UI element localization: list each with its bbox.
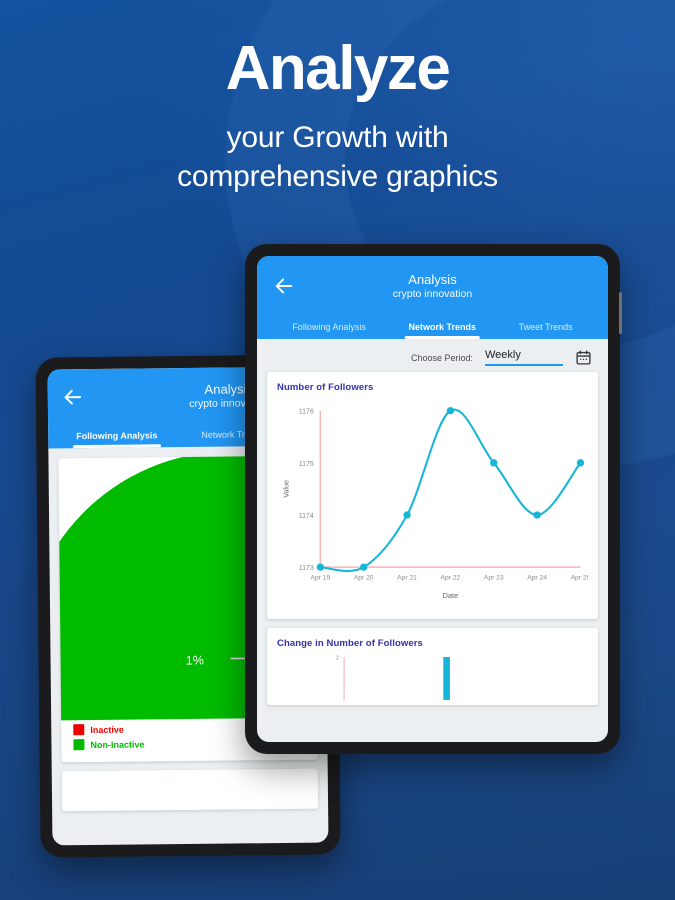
data-point-marker[interactable] <box>447 407 454 414</box>
x-tick-label: Apr 24 <box>527 574 547 581</box>
pie-chart-secondary-svg <box>172 780 318 811</box>
followers-line-series <box>320 410 580 571</box>
x-tick-label: Apr 19 <box>310 574 330 581</box>
followers-chart-title: Number of Followers <box>277 382 588 393</box>
bar-series-item[interactable] <box>443 657 450 700</box>
change-followers-chart-plot: 2 <box>277 651 588 703</box>
y-tick-label: 1175 <box>299 461 314 468</box>
calendar-icon[interactable] <box>575 349 592 366</box>
tablet-front-screen: Analysis crypto innovation Following Ana… <box>257 256 608 742</box>
change-followers-chart-title: Change in Number of Followers <box>277 638 588 649</box>
header-top-row: Analysis crypto innovation <box>271 272 594 300</box>
headline-secondary-line2: comprehensive graphics <box>0 157 675 196</box>
tab-tweet-trends[interactable]: Tweet Trends <box>517 316 575 339</box>
x-tick-label: Apr 22 <box>441 574 461 581</box>
y-tick-label: 1174 <box>299 513 314 520</box>
y-tick-label: 1176 <box>299 409 314 416</box>
headline-block: Analyze your Growth with comprehensive g… <box>0 38 675 196</box>
period-select[interactable]: Weekly <box>485 349 563 366</box>
x-tick-label: Apr 21 <box>397 574 417 581</box>
headline-secondary-line1: your Growth with <box>0 118 675 157</box>
app-header: Analysis crypto innovation Following Ana… <box>257 256 608 339</box>
tablet-side-button[interactable] <box>619 292 622 334</box>
arrow-left-icon[interactable] <box>60 384 86 410</box>
y-tick-label: 2 <box>336 655 339 661</box>
tab-following-analysis[interactable]: Following Analysis <box>290 316 368 339</box>
change-followers-chart-card: Change in Number of Followers 2 <box>267 628 598 705</box>
followers-chart-plot: 1173117411751176Apr 19Apr 20Apr 21Apr 22… <box>277 395 588 613</box>
legend-label-inactive: Inactive <box>90 724 124 734</box>
page-subtitle: crypto innovation <box>297 288 568 300</box>
headline-primary: Analyze <box>0 38 675 100</box>
tablet-device-front: Analysis crypto innovation Following Ana… <box>245 244 620 754</box>
followers-chart-card: Number of Followers 1173117411751176Apr … <box>267 372 598 619</box>
followers-line-chart-svg: 1173117411751176Apr 19Apr 20Apr 21Apr 22… <box>277 395 588 613</box>
legend-swatch-non-inactive <box>73 739 84 750</box>
arrow-left-icon[interactable] <box>271 273 297 299</box>
tab-network-trends[interactable]: Network Trends <box>406 316 478 339</box>
tab-bar: Following Analysis Network Trends Tweet … <box>271 316 594 339</box>
x-tick-label: Apr 23 <box>484 574 504 581</box>
legend-swatch-inactive <box>73 724 84 735</box>
y-axis-label: Value <box>282 480 290 498</box>
data-point-marker[interactable] <box>533 511 540 518</box>
x-tick-label: Apr 25 <box>571 574 588 581</box>
choose-period-row: Choose Period: Weekly <box>257 339 608 372</box>
legend-label-non-inactive: Non-Inactive <box>90 739 144 750</box>
y-tick-label: 1173 <box>299 565 314 572</box>
pie-chart-card-secondary <box>62 769 318 812</box>
header-titles: Analysis crypto innovation <box>297 272 594 300</box>
data-point-marker[interactable] <box>317 563 324 570</box>
data-point-marker[interactable] <box>403 511 410 518</box>
data-point-marker[interactable] <box>360 563 367 570</box>
x-axis-label: Date <box>442 591 458 600</box>
data-point-marker[interactable] <box>577 459 584 466</box>
page-title: Analysis <box>297 272 568 287</box>
x-tick-label: Apr 20 <box>354 574 374 581</box>
change-followers-bar-chart-svg: 2 <box>277 651 588 703</box>
tab-following-analysis[interactable]: Following Analysis <box>74 424 159 448</box>
choose-period-label: Choose Period: <box>411 353 473 363</box>
data-point-marker[interactable] <box>490 459 497 466</box>
pie-label: 1% <box>186 653 204 667</box>
